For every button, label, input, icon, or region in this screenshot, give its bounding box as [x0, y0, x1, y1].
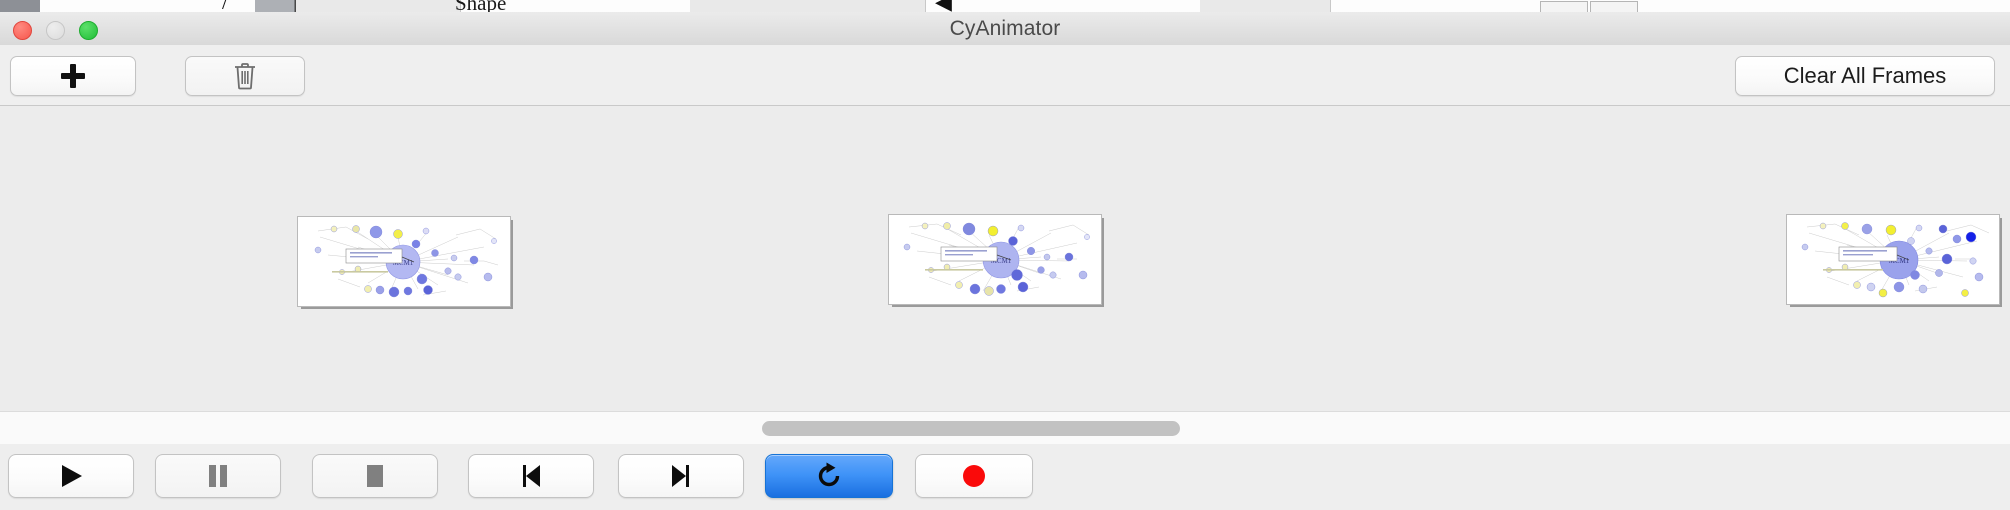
skip-to-start-icon	[519, 462, 543, 490]
record-button[interactable]	[915, 454, 1033, 498]
play-button[interactable]	[8, 454, 134, 498]
network-preview: MCM1	[297, 216, 511, 307]
loop-icon	[814, 461, 844, 491]
toolbar: Clear All Frames	[0, 45, 2010, 106]
trash-icon	[233, 62, 257, 90]
frame-thumbnail[interactable]: MCM1	[297, 216, 513, 309]
scrollbar-thumb[interactable]	[762, 421, 1180, 436]
network-graph: MCM1	[1787, 215, 1999, 304]
frame-thumbnail[interactable]: MCM1	[888, 214, 1104, 307]
stop-icon	[363, 462, 387, 490]
background-dark-block-2	[255, 0, 295, 12]
title-bar: CyAnimator	[0, 12, 2010, 46]
skip-to-end-icon	[669, 462, 693, 490]
record-icon	[961, 463, 987, 489]
add-frame-button[interactable]	[10, 56, 136, 96]
frame-thumbnail[interactable]: MCM1	[1786, 214, 2002, 307]
clear-all-frames-button[interactable]: Clear All Frames	[1735, 56, 1995, 96]
play-icon	[58, 462, 84, 490]
background-segment	[295, 0, 416, 12]
plus-icon	[61, 64, 85, 88]
delete-frame-button[interactable]	[185, 56, 305, 96]
cyanimator-window: / | ◀ Shape CyAnimator Clear All Frames	[0, 0, 2010, 510]
background-segment	[805, 0, 926, 12]
network-preview: MCM1	[888, 214, 1102, 305]
stop-button[interactable]	[312, 454, 438, 498]
pause-icon	[206, 462, 230, 490]
timeline-panel[interactable]: MCM1	[0, 106, 2010, 411]
background-segment	[1200, 0, 1331, 12]
background-segment	[690, 0, 806, 12]
playback-controls: Animation Speed:	[0, 444, 2010, 510]
network-preview: MCM1	[1786, 214, 2000, 305]
loop-button[interactable]	[765, 454, 893, 498]
timeline-scrollbar[interactable]	[0, 411, 2010, 445]
skip-to-start-button[interactable]	[468, 454, 594, 498]
window-title: CyAnimator	[0, 12, 2010, 45]
pause-button[interactable]	[155, 454, 281, 498]
background-window-strip: / | ◀ Shape	[0, 0, 2010, 12]
network-graph: MCM1	[889, 215, 1101, 304]
skip-to-end-button[interactable]	[618, 454, 744, 498]
network-graph: MCM1	[298, 217, 510, 306]
background-dark-block	[0, 0, 40, 12]
